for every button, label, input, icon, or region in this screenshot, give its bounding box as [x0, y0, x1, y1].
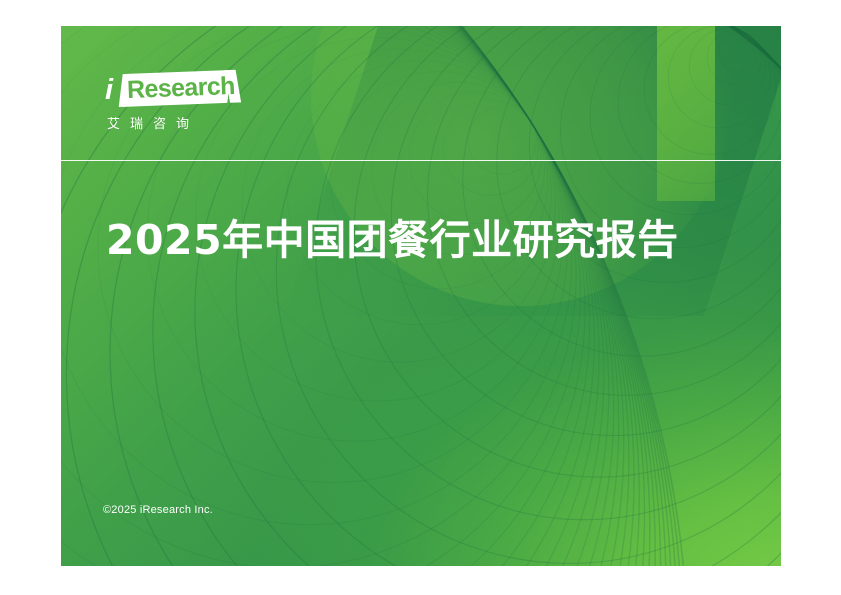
copyright-footer: ©2025 iResearch Inc. [103, 504, 213, 516]
page-title: 2025年中国团餐行业研究报告 [106, 212, 746, 268]
logo-letter-i: i [105, 75, 112, 105]
iresearch-logo: i Research 艾瑞咨询 [103, 72, 293, 144]
logo-chinese-subtitle: 艾瑞咨询 [107, 113, 199, 132]
report-cover-slide: i Research 艾瑞咨询 2025年中国团餐行业研究报告 ©2025 iR… [61, 26, 781, 566]
header-divider [61, 160, 781, 161]
logo-wordmark: Research [126, 72, 235, 105]
logo-mark: i Research [103, 72, 275, 112]
